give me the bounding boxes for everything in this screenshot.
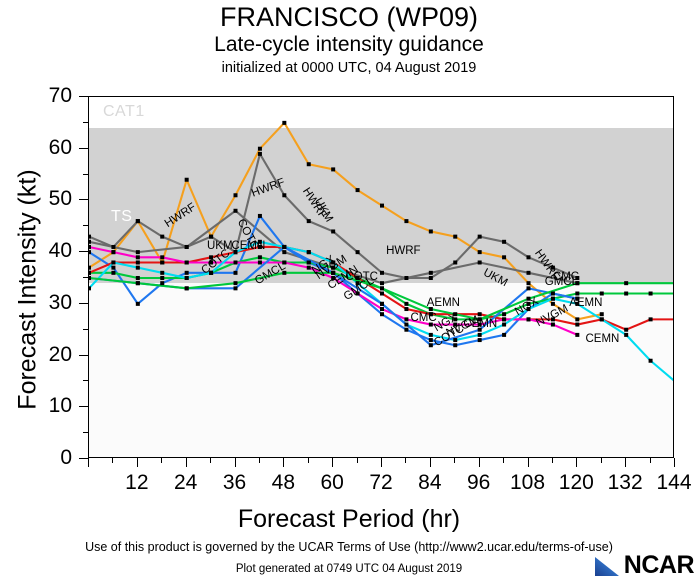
x-tick-minor [454,458,455,463]
curve-label-cmc: CMC [410,312,436,324]
data-point [404,276,408,280]
y-tick-major [79,406,88,407]
data-point [185,178,189,182]
data-point [234,281,238,285]
data-point [404,302,408,306]
data-point [136,276,140,280]
y-tick-label: 70 [0,85,72,106]
curve-label-cemn: CEMN [231,240,265,252]
data-point [673,292,674,296]
data-point [575,333,579,337]
x-tick-minor [112,458,113,463]
data-point [527,281,531,285]
data-point [429,343,433,347]
data-point [478,260,482,264]
x-tick-major [88,458,89,467]
data-point [185,276,189,280]
data-point [160,255,164,259]
data-point [624,328,628,332]
x-tick-major [186,458,187,467]
data-point [404,307,408,311]
data-point [527,286,531,290]
data-point [502,240,506,244]
data-point [258,260,262,264]
data-point [282,193,286,197]
data-point [331,229,335,233]
data-point [551,292,555,296]
y-tick-major [79,251,88,252]
data-point [136,255,140,259]
x-tick-major [430,458,431,467]
data-point [160,260,164,264]
data-point [282,245,286,249]
data-point [111,260,115,264]
page-title: FRANCISCO (WP09) [0,2,698,33]
x-tick-minor [601,458,602,463]
x-tick-major [625,458,626,467]
data-point [575,317,579,321]
data-point [502,333,506,337]
curve-label-aemn: AEMN [427,297,460,309]
terms-of-use-text: Use of this product is governed by the U… [0,540,698,554]
data-point [307,250,311,254]
curve-label-cmc: CMC [553,271,579,283]
x-tick-major [381,458,382,467]
data-point [502,255,506,259]
data-point [89,250,91,254]
data-point [575,292,579,296]
x-tick-major [235,458,236,467]
data-point [258,152,262,156]
y-tick-major [79,355,88,356]
data-point [649,317,653,321]
data-point [429,271,433,275]
data-point [453,260,457,264]
data-point [380,312,384,316]
x-tick-minor [552,458,553,463]
data-point [89,276,91,280]
y-tick-label: 60 [0,137,72,158]
data-point [527,317,531,321]
data-point [185,271,189,275]
initialization-time: initialized at 0000 UTC, 04 August 2019 [0,60,698,76]
x-tick-minor [161,458,162,463]
data-point [160,235,164,239]
x-tick-major [332,458,333,467]
data-point [429,333,433,337]
data-point [111,245,115,249]
ncar-logo-text: NCAR [624,553,694,578]
data-point [453,235,457,239]
x-tick-major [479,458,480,467]
data-point [624,333,628,337]
x-tick-major [674,458,675,467]
x-tick-minor [357,458,358,463]
data-point [478,333,482,337]
data-point [380,302,384,306]
data-point [356,250,360,254]
data-point [502,323,506,327]
x-tick-minor [259,458,260,463]
data-point [89,271,91,275]
data-point [234,286,238,290]
y-tick-label: 40 [0,240,72,261]
y-tick-label: 0 [0,447,72,468]
data-point [551,302,555,306]
data-point [282,250,286,254]
data-point [136,281,140,285]
data-point [307,219,311,223]
data-point [282,121,286,125]
data-point [136,260,140,264]
forecast-lines [89,97,674,458]
data-point [89,286,91,290]
data-point [404,328,408,332]
data-point [160,276,164,280]
data-point [624,292,628,296]
data-point [380,307,384,311]
x-tick-minor [210,458,211,463]
data-point [111,271,115,275]
y-tick-major [79,96,88,97]
data-point [234,260,238,264]
data-point [673,317,674,321]
data-point [185,286,189,290]
data-point [234,193,238,197]
data-point [600,312,604,316]
x-tick-minor [650,458,651,463]
x-tick-minor [405,458,406,463]
x-tick-minor [308,458,309,463]
data-point [89,235,91,239]
data-point [673,379,674,383]
data-point [160,271,164,275]
chart-plot-area: CAT1TS HWRFHWRFHWRFHWRFHWRFUKMUKMUKMCOTC… [88,96,674,458]
x-tick-major [528,458,529,467]
x-tick-label: 144 [644,472,698,493]
data-point [404,317,408,321]
data-point [600,292,604,296]
data-point [575,323,579,327]
data-point [502,317,506,321]
data-point [307,260,311,264]
data-point [429,276,433,280]
data-point [89,240,91,244]
data-point [624,281,628,285]
curve-label-aemn: AEMN [569,297,602,309]
data-point [234,209,238,213]
y-tick-label: 10 [0,395,72,416]
data-point [429,229,433,233]
ncar-swoosh-icon [593,554,623,578]
data-point [478,235,482,239]
x-tick-major [576,458,577,467]
data-point [258,147,262,151]
data-point [380,281,384,285]
data-point [551,323,555,327]
data-point [185,245,189,249]
data-point [136,250,140,254]
y-tick-label: 30 [0,292,72,313]
x-tick-minor [503,458,504,463]
y-tick-label: 20 [0,344,72,365]
data-point [478,250,482,254]
data-point [356,188,360,192]
data-point [136,266,140,270]
data-point [331,167,335,171]
data-point [89,245,91,249]
data-point [551,297,555,301]
data-point [527,271,531,275]
data-point [478,312,482,316]
data-point [673,281,674,285]
data-point [111,266,115,270]
data-point [89,266,91,270]
data-point [136,219,140,223]
data-point [258,255,262,259]
data-point [527,255,531,259]
ncar-logo: NCAR [593,553,694,578]
data-point [136,302,140,306]
data-point [478,338,482,342]
data-point [160,281,164,285]
curve-label-hwrf: HWRF [386,245,421,257]
data-point [600,317,604,321]
y-tick-major [79,303,88,304]
data-point [380,286,384,290]
data-point [404,219,408,223]
data-point [380,204,384,208]
x-tick-major [283,458,284,467]
y-tick-major [79,148,88,149]
data-point [502,312,506,316]
y-tick-label: 50 [0,188,72,209]
data-point [111,250,115,254]
data-point [380,271,384,275]
x-tick-major [137,458,138,467]
data-point [380,292,384,296]
x-axis-title: Forecast Period (hr) [0,505,698,534]
y-tick-major [79,458,88,459]
curve-label-cemn: CEMN [585,333,619,345]
y-tick-major [79,199,88,200]
data-point [234,271,238,275]
data-point [649,359,653,363]
data-point [258,214,262,218]
data-point [185,260,189,264]
data-point [649,292,653,296]
data-point [307,162,311,166]
page-subtitle: Late-cycle intensity guidance [0,33,698,57]
data-point [209,235,213,239]
data-point [404,323,408,327]
data-point [453,343,457,347]
